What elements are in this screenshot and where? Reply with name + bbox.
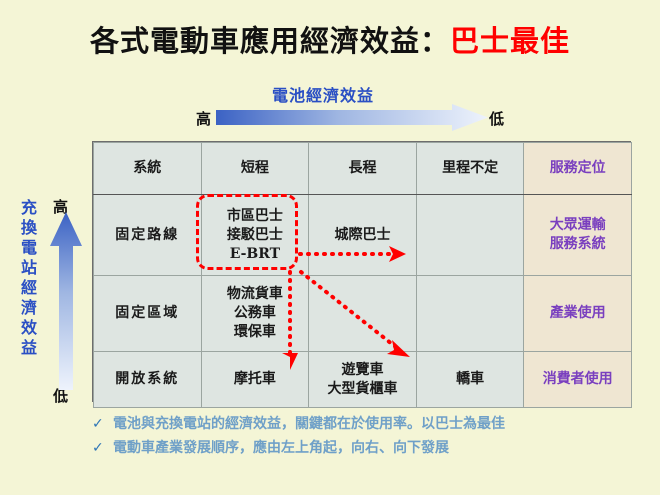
- cell-fixed-area-long: [309, 276, 417, 352]
- cell-fixed-area-service: 產業使用: [524, 276, 632, 352]
- cell-line: 接駁巴士: [202, 226, 309, 245]
- cell-line: 大眾運輸: [524, 216, 631, 235]
- cell-line: 遊覽車: [309, 361, 416, 380]
- list-item: ✓ 電動車產業發展順序，應由左上角起，向右、向下發展: [92, 438, 652, 459]
- cell-line: 環保車: [202, 323, 309, 342]
- cell-line: 大型貨櫃車: [309, 380, 416, 399]
- list-item: ✓ 電池與充換電站的經濟效益，關鍵都在於使用率。以巴士為最佳: [92, 414, 652, 435]
- bullet-list: ✓ 電池與充換電站的經濟效益，關鍵都在於使用率。以巴士為最佳 ✓ 電動車產業發展…: [92, 414, 652, 462]
- top-axis-high-label: 高: [196, 108, 211, 129]
- left-axis-label: 充換電站經濟效益: [18, 198, 40, 358]
- cell-line: 產業使用: [524, 304, 631, 323]
- cell-fixed-area-undetermined: [416, 276, 524, 352]
- row-label-fixed-route: 固定路線: [94, 195, 202, 276]
- left-axis-arrow-icon: [50, 212, 82, 390]
- cell-line: 消費者使用: [524, 370, 631, 389]
- table-row: 固定路線 市區巴士 接駁巴士 E-BRT 城際巴士 大眾運輸 服務系統: [94, 195, 632, 276]
- cell-fixed-route-undetermined: [416, 195, 524, 276]
- matrix-table: 系統 短程 長程 里程不定 服務定位 固定路線 市區巴士 接駁巴士 E-BRT …: [93, 142, 632, 408]
- cell-open-system-short: 摩托車: [201, 352, 309, 408]
- check-icon: ✓: [92, 414, 104, 435]
- cell-line: 轎車: [417, 370, 524, 389]
- cell-open-system-service: 消費者使用: [524, 352, 632, 408]
- cell-fixed-area-short: 物流貨車 公務車 環保車: [201, 276, 309, 352]
- page-title: 各式電動車應用經濟效益：巴士最佳: [0, 18, 660, 60]
- table-header-row: 系統 短程 長程 里程不定 服務定位: [94, 143, 632, 195]
- bullet-text: 電池與充換電站的經濟效益，關鍵都在於使用率。以巴士為最佳: [113, 414, 505, 435]
- check-icon: ✓: [92, 438, 104, 459]
- bullet-text: 電動車產業發展順序，應由左上角起，向右、向下發展: [113, 438, 449, 459]
- cell-line: E-BRT: [202, 245, 309, 264]
- top-axis-label: 電池經濟效益: [272, 82, 374, 106]
- col-header-undetermined-range: 里程不定: [416, 143, 524, 195]
- cell-open-system-long: 遊覽車 大型貨櫃車: [309, 352, 417, 408]
- top-axis-low-label: 低: [489, 108, 504, 129]
- slide-canvas: 各式電動車應用經濟效益：巴士最佳 電池經濟效益 高 低 充換電站經濟效益 高 低: [0, 0, 660, 495]
- col-header-short-range: 短程: [201, 143, 309, 195]
- cell-line: 服務系統: [524, 235, 631, 254]
- page-title-main: 各式電動車應用經濟效益：: [90, 24, 450, 58]
- cell-line: 城際巴士: [309, 226, 416, 245]
- table-row: 固定區域 物流貨車 公務車 環保車 產業使用: [94, 276, 632, 352]
- col-header-service-position: 服務定位: [524, 143, 632, 195]
- cell-line: 摩托車: [202, 370, 309, 389]
- cell-fixed-route-long: 城際巴士: [309, 195, 417, 276]
- cell-line: 市區巴士: [202, 207, 309, 226]
- col-header-long-range: 長程: [309, 143, 417, 195]
- top-axis-arrow-icon: [216, 104, 488, 132]
- col-header-system: 系統: [94, 143, 202, 195]
- cell-fixed-route-short: 市區巴士 接駁巴士 E-BRT: [201, 195, 309, 276]
- cell-line: 公務車: [202, 304, 309, 323]
- row-label-open-system: 開放系統: [94, 352, 202, 408]
- matrix-table-wrapper: 系統 短程 長程 里程不定 服務定位 固定路線 市區巴士 接駁巴士 E-BRT …: [92, 141, 631, 402]
- cell-line: 物流貨車: [202, 285, 309, 304]
- cell-fixed-route-service: 大眾運輸 服務系統: [524, 195, 632, 276]
- cell-open-system-undetermined: 轎車: [416, 352, 524, 408]
- row-label-fixed-area: 固定區域: [94, 276, 202, 352]
- page-title-highlight: 巴士最佳: [450, 24, 570, 58]
- table-row: 開放系統 摩托車 遊覽車 大型貨櫃車 轎車 消費者使用: [94, 352, 632, 408]
